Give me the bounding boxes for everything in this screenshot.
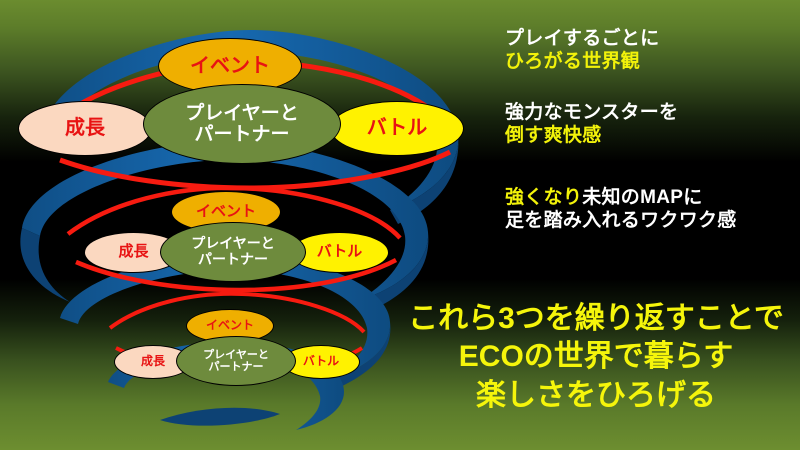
node-label: バトル — [367, 117, 428, 139]
node-label-line1: プレイヤーと — [203, 349, 269, 361]
node-label-line1: プレイヤーと — [185, 103, 298, 124]
node-center-bottom[interactable]: プレイヤーと パートナー — [176, 336, 296, 386]
node-label: バトル — [303, 355, 339, 368]
caption-segment: 未知のMAPに — [582, 187, 702, 208]
node-label: バトル — [317, 244, 362, 261]
node-center-middle[interactable]: プレイヤーと パートナー — [160, 222, 306, 282]
caption-line: ひろがる世界観 — [505, 50, 659, 73]
node-label: イベント — [196, 204, 256, 221]
caption-line: 足を踏み入れるワクワク感 — [505, 209, 737, 232]
caption-line: 楽しさをひろげる — [398, 377, 794, 415]
node-label: 成長 — [65, 117, 105, 139]
caption-block-1: プレイするごとに ひろがる世界観 — [505, 27, 659, 73]
node-label: イベント — [206, 319, 254, 332]
spiral-band-4-end — [160, 408, 280, 426]
spiral-band-2-left-under — [20, 228, 70, 302]
node-label-line2: パートナー — [198, 252, 268, 268]
node-label-line2: パートナー — [209, 361, 264, 373]
node-label: イベント — [190, 55, 270, 77]
caption-line: これら3つを繰り返すことで — [398, 300, 794, 338]
node-battle-top[interactable]: バトル — [330, 101, 464, 156]
caption-line: 強くなり未知のMAPに — [505, 186, 737, 209]
node-center-top[interactable]: プレイヤーと パートナー — [143, 84, 341, 164]
caption-line: ECOの世界で暮らす — [398, 338, 794, 376]
node-label-line1: プレイヤーと — [191, 236, 275, 252]
caption-block-2: 強力なモンスターを 倒す爽快感 — [505, 101, 678, 147]
caption-line: 強力なモンスターを — [505, 101, 678, 124]
node-growth-top[interactable]: 成長 — [18, 101, 152, 156]
caption-final: これら3つを繰り返すことで ECOの世界で暮らす 楽しさをひろげる — [398, 300, 794, 415]
slide-canvas: イベント 成長 バトル プレイヤーと パートナー イベント 成長 バトル プレイ… — [0, 0, 800, 450]
caption-segment: 強くなり — [505, 187, 582, 208]
node-label: 成長 — [141, 355, 165, 368]
node-label-line2: パートナー — [194, 124, 289, 145]
caption-line: 倒す爽快感 — [505, 124, 678, 147]
node-label: 成長 — [118, 244, 148, 261]
caption-block-3: 強くなり未知のMAPに 足を踏み入れるワクワク感 — [505, 186, 737, 232]
caption-line: プレイするごとに — [505, 27, 659, 50]
